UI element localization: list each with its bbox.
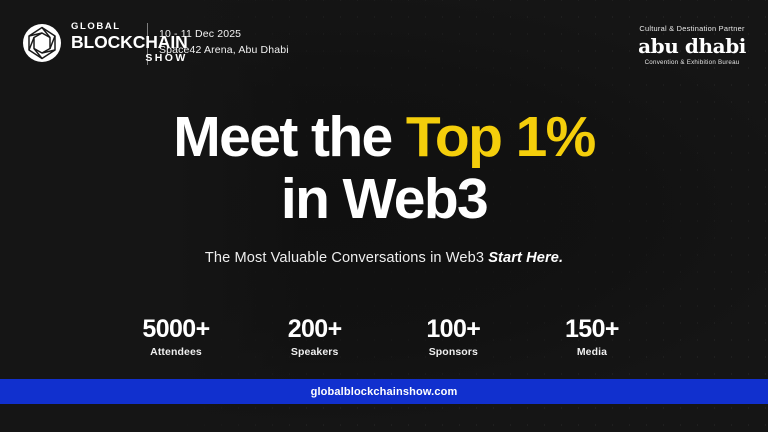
- header-divider: [147, 23, 148, 65]
- headline-line-1: Meet the Top 1%: [0, 108, 768, 166]
- website-url[interactable]: globalblockchainshow.com: [311, 386, 458, 398]
- blockchain-aperture-logo-icon: [22, 23, 62, 63]
- subheadline-emphasis: Start Here.: [488, 250, 563, 266]
- partner-name: abu dhabi: [638, 36, 746, 56]
- stat-item: 200+ Speakers: [267, 316, 363, 358]
- stat-value: 100+: [405, 316, 501, 342]
- stat-value: 5000+: [128, 316, 224, 342]
- header: GLOBAL BLOCKCHAIN SHOW 10 - 11 Dec 2025 …: [0, 0, 768, 96]
- event-venue: Space42 Arena, Abu Dhabi: [159, 42, 289, 58]
- stat-value: 150+: [544, 316, 640, 342]
- partner-subtitle: Convention & Exhibition Bureau: [638, 59, 746, 66]
- partner-lockup: Cultural & Destination Partner abu dhabi…: [638, 24, 746, 66]
- stat-item: 150+ Media: [544, 316, 640, 358]
- headline-white-part: Meet the: [173, 105, 391, 169]
- stat-label: Media: [544, 346, 640, 358]
- hero-subheadline: The Most Valuable Conversations in Web3 …: [0, 250, 768, 266]
- stat-label: Sponsors: [405, 346, 501, 358]
- stats-row: 5000+ Attendees 200+ Speakers 100+ Spons…: [128, 316, 640, 358]
- stat-item: 5000+ Attendees: [128, 316, 224, 358]
- stat-label: Speakers: [267, 346, 363, 358]
- headline-line-2: in Web3: [0, 170, 768, 228]
- subheadline-normal: The Most Valuable Conversations in Web3: [205, 250, 484, 266]
- stat-label: Attendees: [128, 346, 224, 358]
- footer-url-bar[interactable]: globalblockchainshow.com: [0, 379, 768, 404]
- partner-kicker: Cultural & Destination Partner: [638, 24, 746, 33]
- hero-section: Meet the Top 1% in Web3 The Most Valuabl…: [0, 108, 768, 266]
- stat-value: 200+: [267, 316, 363, 342]
- event-dates: 10 - 11 Dec 2025: [159, 26, 289, 42]
- event-meta: 10 - 11 Dec 2025 Space42 Arena, Abu Dhab…: [159, 26, 289, 59]
- stat-item: 100+ Sponsors: [405, 316, 501, 358]
- promo-slide: GLOBAL BLOCKCHAIN SHOW 10 - 11 Dec 2025 …: [0, 0, 768, 432]
- headline-accent-part: Top 1%: [406, 105, 595, 169]
